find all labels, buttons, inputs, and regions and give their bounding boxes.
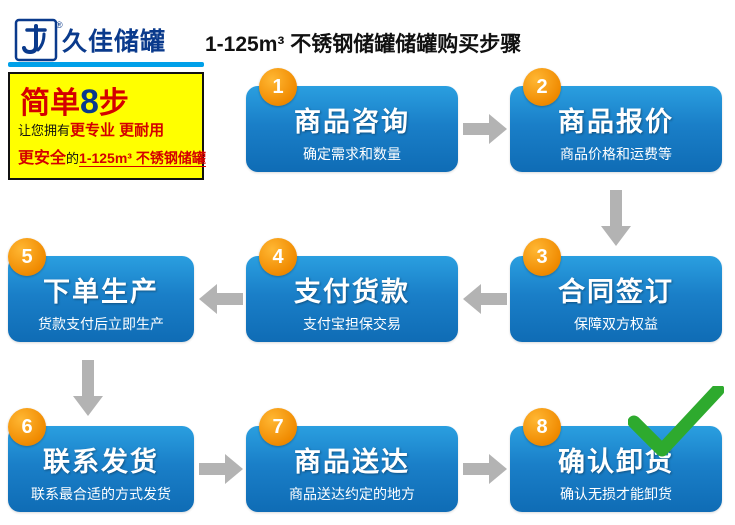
company-logo: 久佳储罐 ® [14, 18, 166, 62]
step-title-5: 下单生产 [8, 270, 194, 309]
promo-box: 简单8步 让您拥有更专业 更耐用 更安全的1-125m³ 不锈钢储罐 [8, 72, 204, 180]
step-subtitle-6: 联系最合适的方式发货 [8, 484, 194, 504]
step-subtitle-8: 确认无损才能卸货 [510, 484, 722, 504]
promo-safe-text: 更安全 [18, 150, 66, 167]
step-subtitle-3: 保障双方权益 [510, 314, 722, 334]
step-badge-5: 5 [8, 238, 46, 276]
company-logo-text: 久佳储罐 [62, 22, 166, 58]
arrow-step7-to-step8 [463, 454, 507, 484]
step-badge-4: 4 [259, 238, 297, 276]
step-subtitle-7: 商品送达约定的地方 [246, 484, 458, 504]
arrow-step1-to-step2 [463, 114, 507, 144]
promo-headline: 简单8步 [20, 78, 129, 122]
green-check-icon [628, 386, 724, 471]
registered-trademark-icon: ® [56, 20, 63, 30]
arrow-step5-to-step6 [73, 360, 103, 416]
step-badge-3: 3 [523, 238, 561, 276]
step-subtitle-4: 支付宝担保交易 [246, 314, 458, 334]
promo-subline-2: 更安全的1-125m³ 不锈钢储罐 [18, 144, 206, 168]
promo-subline-1: 让您拥有更专业 更耐用 [18, 119, 164, 140]
page-title: 1-125m³ 不锈钢储罐储罐购买步骤 [205, 28, 521, 58]
arrow-step2-to-step3 [601, 190, 631, 246]
step-badge-6: 6 [8, 408, 46, 446]
step-badge-8: 8 [523, 408, 561, 446]
company-logo-icon [14, 18, 58, 62]
step-subtitle-1: 确定需求和数量 [246, 144, 458, 164]
flowchart-page: 久佳储罐 ® 1-125m³ 不锈钢储罐储罐购买步骤 简单8步 让您拥有更专业 … [0, 0, 735, 525]
arrow-step3-to-step4 [463, 284, 507, 314]
step-title-6: 联系发货 [8, 440, 194, 479]
step-badge-1: 1 [259, 68, 297, 106]
promo-headline-prefix: 简单 [20, 87, 80, 120]
arrow-step6-to-step7 [199, 454, 243, 484]
promo-de-text: 的 [66, 151, 79, 166]
step-subtitle-2: 商品价格和运费等 [510, 144, 722, 164]
promo-headline-suffix: 步 [99, 87, 129, 120]
step-badge-7: 7 [259, 408, 297, 446]
step-badge-2: 2 [523, 68, 561, 106]
arrow-step4-to-step5 [199, 284, 243, 314]
logo-underline-bar [8, 62, 204, 67]
promo-headline-number: 8 [80, 83, 99, 121]
promo-product-text: 1-125m³ 不锈钢储罐 [79, 150, 206, 167]
step-subtitle-5: 货款支付后立即生产 [8, 314, 194, 334]
